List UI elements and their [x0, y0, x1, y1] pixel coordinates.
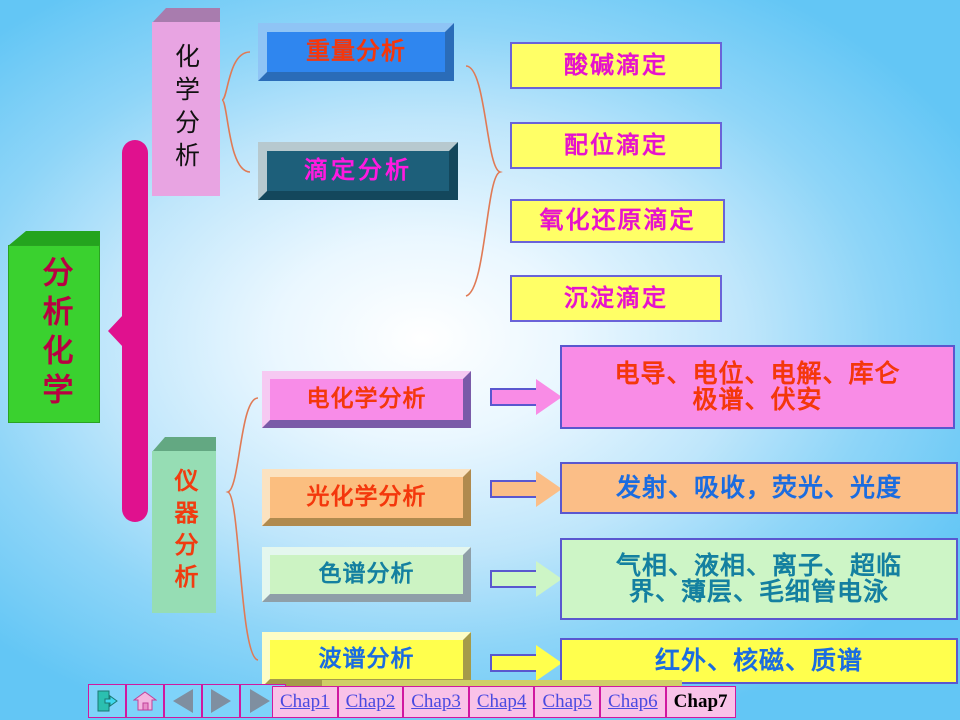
result-label-photochemical: 发射、吸收，荧光、光度	[616, 475, 902, 502]
chapter-button-1[interactable]: Chap1	[272, 686, 338, 718]
node-label-titrimetric-analysis: 滴定分析	[304, 158, 412, 183]
node-photochemical-analysis[interactable]: 光化学分析	[262, 469, 471, 526]
chapter-button-label: Chap5	[542, 691, 592, 713]
result-label-electrochemical: 电导、电位、电解、库仑 极谱、伏安	[614, 361, 900, 414]
exit-icon-glyph	[95, 689, 119, 713]
node-complexometric-titration[interactable]: 配位滴定	[510, 122, 722, 169]
chapter-button-label: Chap2	[346, 691, 396, 713]
arrow-head	[536, 379, 562, 415]
node-acid-base-titration[interactable]: 酸碱滴定	[510, 42, 722, 89]
node-label-precipitation-titration: 沉淀滴定	[564, 286, 668, 311]
last-slide-icon-glyph	[250, 689, 270, 713]
arrow-shaft	[490, 388, 538, 406]
chapter-button-2[interactable]: Chap2	[338, 686, 404, 718]
node-label-complexometric-titration: 配位滴定	[564, 133, 668, 158]
node-titrimetric-analysis[interactable]: 滴定分析	[258, 142, 458, 200]
node-label-photochemical-analysis: 光化学分析	[307, 485, 427, 509]
arrow-shaft	[490, 654, 538, 672]
result-label-chromatographic: 气相、液相、离子、超临 界、薄层、毛细管电泳	[616, 553, 902, 606]
prism-front-face: 仪器分析	[152, 451, 216, 613]
arrow-shaft	[490, 570, 538, 588]
node-label-spectroscopic-analysis: 波谱分析	[319, 647, 415, 671]
prism-front-face: 化学分析	[152, 22, 220, 196]
node-spectroscopic-analysis[interactable]: 波谱分析	[262, 632, 471, 687]
node-chemical-analysis[interactable]: 化学分析	[152, 8, 220, 196]
prism-top-face	[152, 437, 216, 452]
node-instrumental-analysis[interactable]: 仪器分析	[152, 437, 216, 613]
chapter-button-4[interactable]: Chap4	[469, 686, 535, 718]
chapter-button-3[interactable]: Chap3	[403, 686, 469, 718]
prism-front-face: 分析化学	[8, 245, 100, 423]
home-icon[interactable]	[126, 684, 164, 718]
chapter-button-5[interactable]: Chap5	[534, 686, 600, 718]
result-electrochemical-methods: 电导、电位、电解、库仑 极谱、伏安	[560, 345, 955, 429]
node-analytical-chemistry[interactable]: 分析化学	[8, 231, 100, 423]
arrow-head	[536, 645, 562, 681]
result-line-2: 极谱、伏安	[692, 385, 822, 414]
node-chromatographic-analysis[interactable]: 色谱分析	[262, 547, 471, 602]
result-spectroscopic-methods: 红外、核磁、质谱	[560, 638, 958, 684]
node-redox-titration[interactable]: 氧化还原滴定	[510, 199, 725, 243]
chapter-button-label: Chap1	[280, 691, 330, 713]
node-label-instrumental-analysis: 仪器分析	[172, 468, 196, 596]
next-icon[interactable]	[202, 684, 240, 718]
node-label-chemical-analysis: 化学分析	[174, 43, 199, 175]
node-precipitation-titration[interactable]: 沉淀滴定	[510, 275, 722, 322]
node-label-redox-titration: 氧化还原滴定	[540, 208, 696, 233]
chapter-button-bar[interactable]: Chap1Chap2Chap3Chap4Chap5Chap6Chap7	[272, 686, 736, 718]
node-label-analytical-chemistry: 分析化学	[39, 256, 70, 412]
chapter-button-label: Chap4	[477, 691, 527, 713]
main-brace	[122, 140, 148, 522]
result-line-1: 气相、液相、离子、超临	[616, 551, 902, 580]
node-gravimetric-analysis[interactable]: 重量分析	[258, 23, 454, 81]
chapter-button-7[interactable]: Chap7	[666, 686, 736, 718]
result-line-1: 电导、电位、电解、库仑	[614, 359, 900, 388]
arrow-head	[536, 471, 562, 507]
node-label-acid-base-titration: 酸碱滴定	[564, 53, 668, 78]
node-label-electrochemical-analysis: 电化学分析	[307, 387, 427, 411]
slide-canvas: 分析化学 化学分析 仪器分析 重量分析 滴定分析 酸碱滴定 配位滴定 氧化还原滴…	[0, 0, 960, 720]
prism-top-face	[8, 231, 100, 246]
result-photochemical-methods: 发射、吸收，荧光、光度	[560, 462, 958, 514]
node-label-gravimetric-analysis: 重量分析	[306, 39, 406, 64]
prism-top-face	[152, 8, 220, 23]
arrow-shaft	[490, 480, 538, 498]
exit-icon[interactable]	[88, 684, 126, 718]
navigation-toolbar[interactable]	[88, 684, 286, 718]
previous-icon[interactable]	[164, 684, 202, 718]
chapter-button-label: Chap6	[608, 691, 658, 713]
result-line-2: 界、薄层、毛细管电泳	[629, 577, 889, 606]
next-icon-glyph	[211, 689, 231, 713]
chapter-button-label: Chap7	[674, 691, 728, 713]
result-chromatographic-methods: 气相、液相、离子、超临 界、薄层、毛细管电泳	[560, 538, 958, 620]
previous-icon-glyph	[173, 689, 193, 713]
node-label-chromatographic-analysis: 色谱分析	[319, 562, 415, 586]
chapter-button-label: Chap3	[411, 691, 461, 713]
node-electrochemical-analysis[interactable]: 电化学分析	[262, 371, 471, 428]
result-label-spectroscopic: 红外、核磁、质谱	[655, 648, 863, 675]
arrow-head	[536, 561, 562, 597]
home-icon-glyph	[133, 690, 157, 712]
chapter-button-6[interactable]: Chap6	[600, 686, 666, 718]
